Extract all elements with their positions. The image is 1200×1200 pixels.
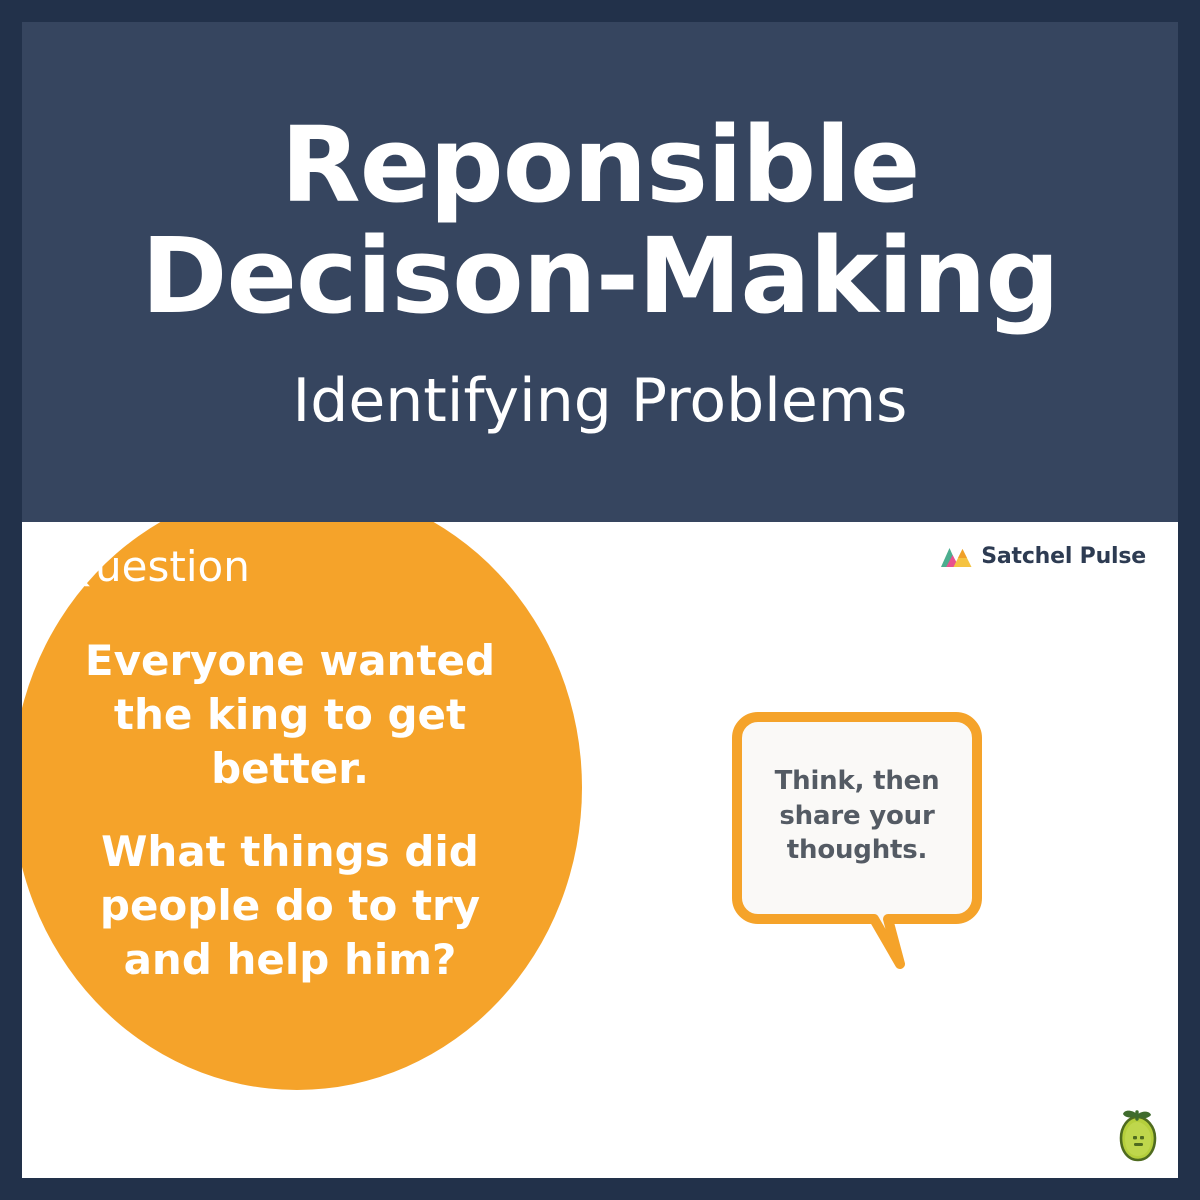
page-subtitle: Identifying Problems (293, 368, 908, 434)
two-mountains-icon (940, 546, 972, 568)
question-body: Everyone wanted the king to get better. … (60, 634, 520, 987)
page-title: Reponsible Decison-Making (50, 110, 1150, 333)
content-panel: Question Everyone wanted the king to get… (22, 522, 1178, 1178)
slide-frame: Reponsible Decison-Making Identifying Pr… (0, 0, 1200, 1200)
pear-icon (1116, 1108, 1160, 1164)
brand-logo: Satchel Pulse (940, 546, 1146, 568)
title-header-panel: Reponsible Decison-Making Identifying Pr… (22, 22, 1178, 522)
speech-bubble: Think, then share your thoughts. (732, 712, 982, 977)
brand-name: Satchel Pulse (981, 546, 1146, 568)
question-paragraph: Everyone wanted the king to get better. (60, 634, 520, 795)
question-label: Question (62, 544, 250, 590)
question-paragraph: What things did people do to try and hel… (60, 825, 520, 986)
speech-bubble-text: Think, then share your thoughts. (758, 764, 956, 868)
